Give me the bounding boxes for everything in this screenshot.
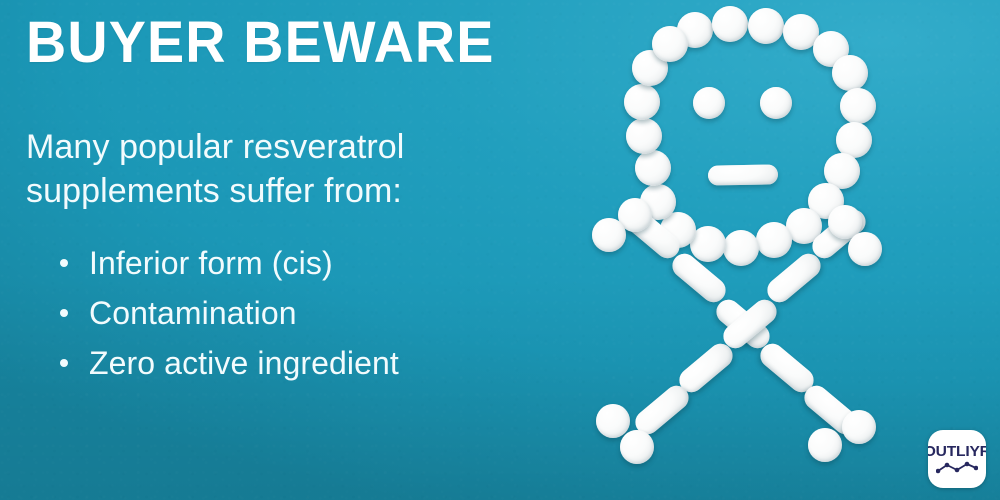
bone-end-pill [620, 430, 654, 464]
bone-end-pill [848, 232, 882, 266]
issues-list: Inferior form (cis) Contamination Zero a… [60, 238, 399, 388]
pill-tablet [840, 88, 876, 124]
pill-tablet [624, 84, 660, 120]
outliyr-logo-badge[interactable]: OUTLIYR ® [928, 430, 986, 488]
list-item: Contamination [60, 288, 399, 338]
bone-end-pill [808, 428, 842, 462]
bone-end-pill [596, 404, 630, 438]
bullet-dot-icon [60, 309, 68, 317]
pill-tablet [756, 222, 792, 258]
pill-tablet [832, 55, 868, 91]
skull-and-crossbones-illustration [560, 0, 1000, 500]
bullet-dot-icon [60, 259, 68, 267]
pill-tablet [635, 150, 671, 186]
logo-wordmark: OUTLIYR ® [928, 444, 986, 459]
promo-graphic: BUYER BEWARE Many popular resveratrol su… [0, 0, 1000, 500]
bullet-dot-icon [60, 359, 68, 367]
pill-tablet [652, 26, 688, 62]
pill-tablet [723, 230, 759, 266]
skull-mouth-capsule [708, 164, 778, 185]
pill-tablet [712, 6, 748, 42]
list-item: Zero active ingredient [60, 338, 399, 388]
logo-wordmark-text: OUTLIYR [928, 443, 986, 460]
list-item-label: Contamination [89, 295, 297, 332]
subheadline: Many popular resveratrol supplements suf… [26, 126, 546, 213]
line-chart-icon [936, 460, 978, 474]
pill-tablet [748, 8, 784, 44]
skull-eye-right-pill [760, 87, 792, 119]
skull-eye-left-pill [693, 87, 725, 119]
list-item-label: Zero active ingredient [89, 345, 399, 382]
bone-end-pill [842, 410, 876, 444]
list-item-label: Inferior form (cis) [89, 245, 333, 282]
headline: BUYER BEWARE [26, 14, 495, 72]
list-item: Inferior form (cis) [60, 238, 399, 288]
bone-end-pill [592, 218, 626, 252]
text-column: BUYER BEWARE Many popular resveratrol su… [26, 0, 571, 500]
pill-tablet [626, 118, 662, 154]
